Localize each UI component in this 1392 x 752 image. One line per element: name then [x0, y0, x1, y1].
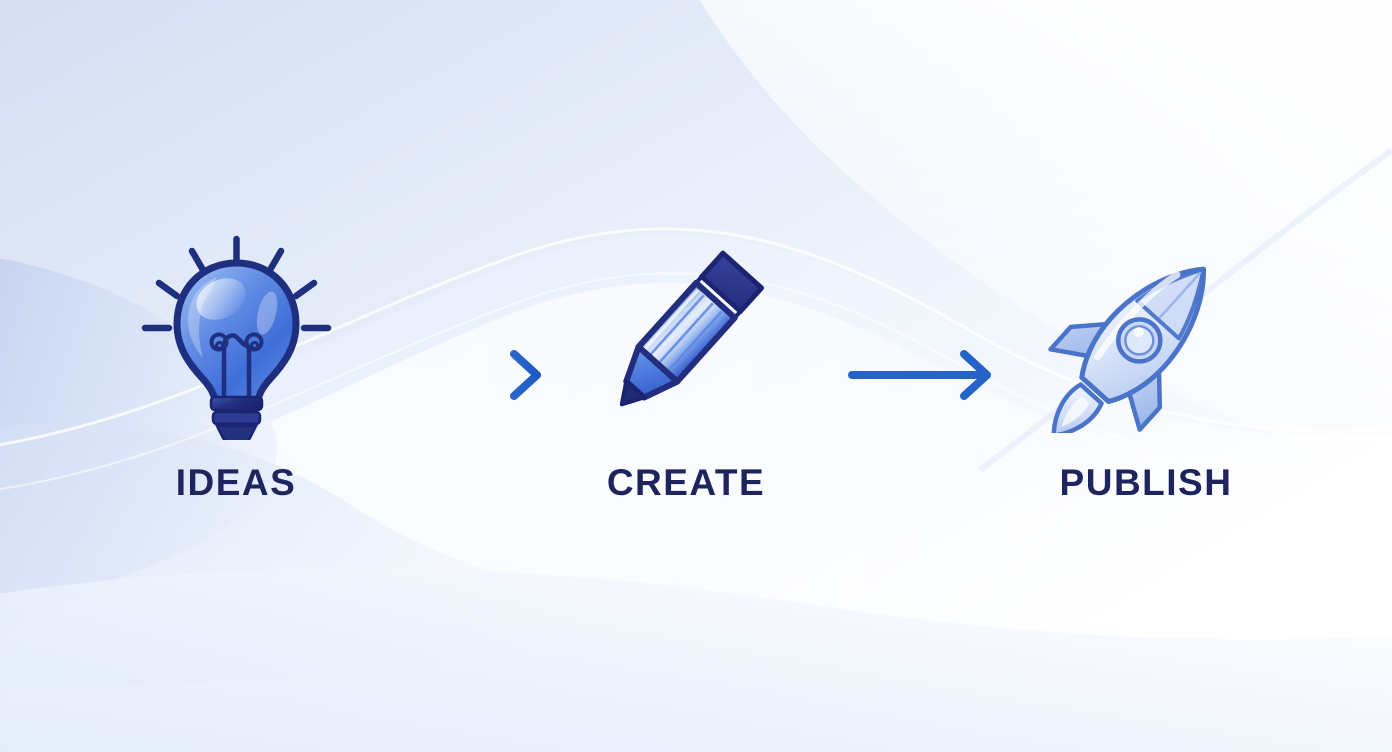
arrow-right-icon: [396, 345, 556, 405]
step-label-ideas: IDEAS: [86, 464, 386, 501]
rocket-icon: [1046, 233, 1246, 433]
rocket-group: [1046, 233, 1246, 433]
lightbulb-base: [211, 397, 262, 440]
pencil-icon: [586, 233, 786, 433]
infographic-canvas: IDEAS: [0, 0, 1392, 752]
flow-step-create[interactable]: CREATE: [536, 225, 836, 501]
pencil-icon-wrapper: [536, 225, 836, 440]
step-label-publish: PUBLISH: [996, 464, 1296, 501]
flow-step-ideas[interactable]: IDEAS: [86, 225, 386, 501]
pencil-group: [602, 253, 761, 422]
step-label-create: CREATE: [536, 464, 836, 501]
lightbulb-icon-wrapper: [86, 225, 386, 440]
process-flow: IDEAS: [0, 0, 1392, 752]
arrow-right-icon: [846, 345, 1006, 405]
flow-step-publish[interactable]: PUBLISH: [996, 225, 1296, 501]
rocket-icon-wrapper: [996, 225, 1296, 440]
lightbulb-icon: [129, 225, 344, 440]
